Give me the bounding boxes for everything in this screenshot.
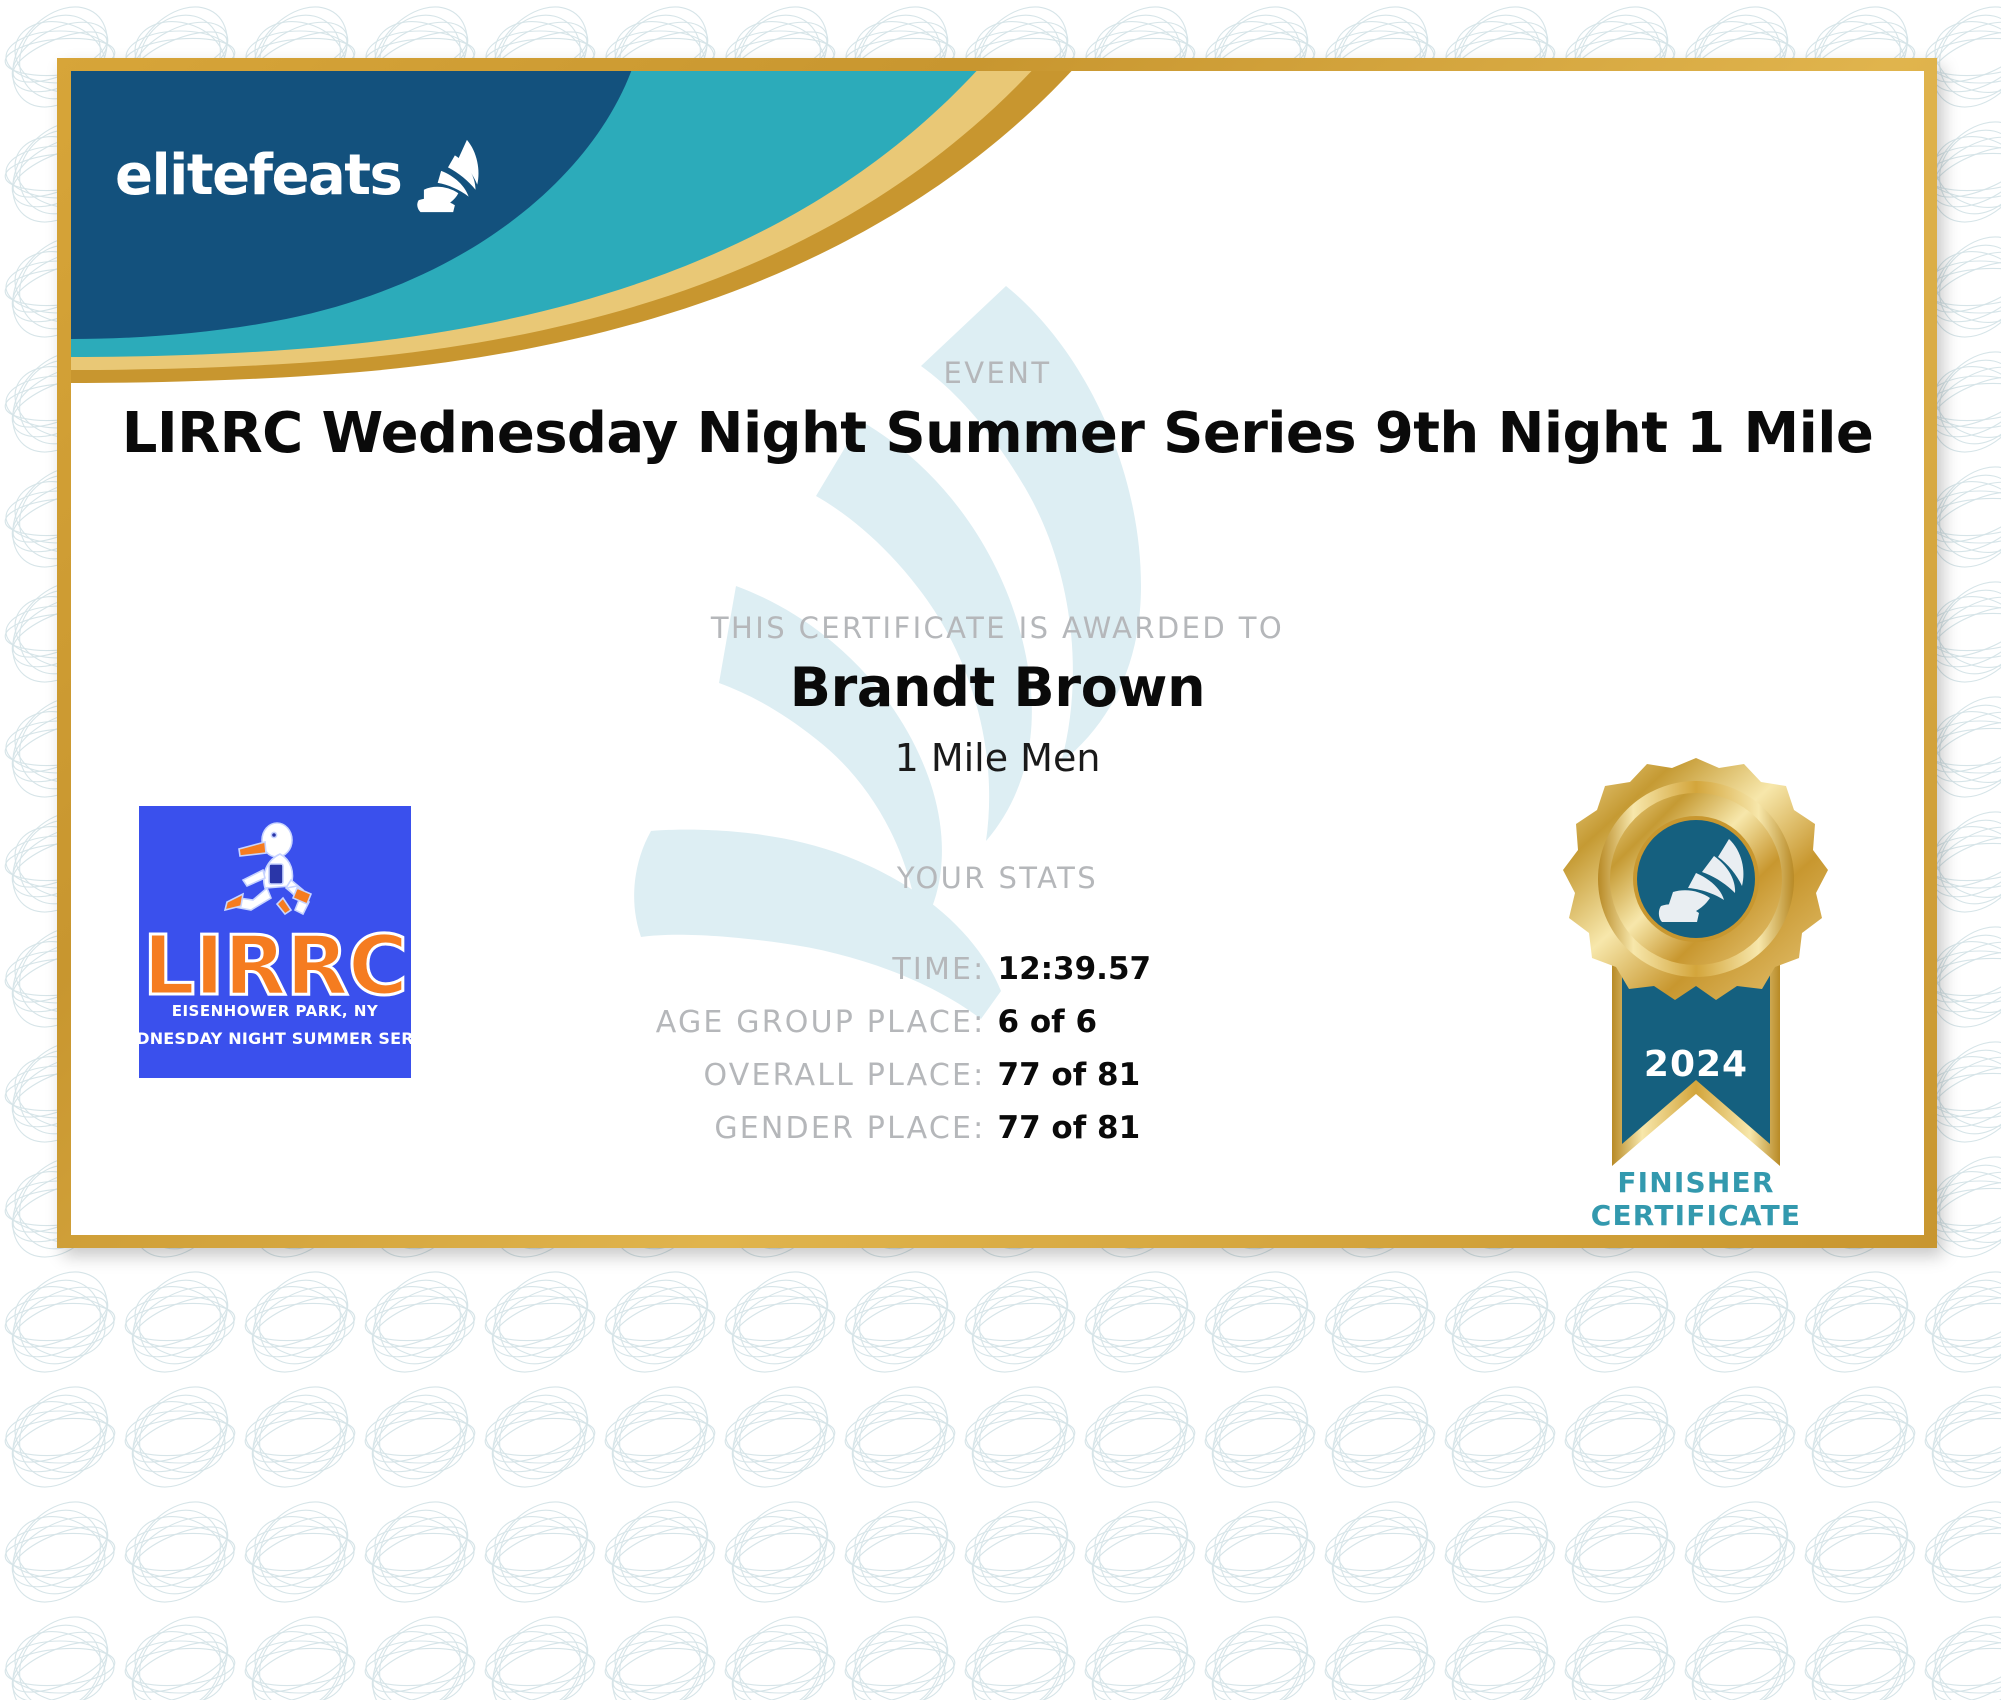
event-label: EVENT xyxy=(71,356,1924,390)
stat-value: 77 of 81 xyxy=(998,1057,1443,1093)
svg-text:LIRRC: LIRRC xyxy=(143,919,407,1014)
elitefeats-logo: elitefeats xyxy=(115,133,491,219)
certificate-paper: elitefeats EVENT LIRRC Wednesday Night S… xyxy=(71,71,1924,1235)
medal-caption-line2: CERTIFICATE xyxy=(1516,1199,1876,1232)
finisher-medal-badge: 2024 xyxy=(1516,746,1876,1216)
certificate-page: elitefeats EVENT LIRRC Wednesday Night S… xyxy=(0,0,2001,1700)
certificate-content: EVENT LIRRC Wednesday Night Summer Serie… xyxy=(71,71,1924,1235)
stat-value: 77 of 81 xyxy=(998,1110,1443,1146)
medal-caption-line1: FINISHER xyxy=(1516,1166,1876,1199)
recipient-name: Brandt Brown xyxy=(71,656,1924,719)
stat-value: 6 of 6 xyxy=(998,1004,1443,1040)
stat-key: AGE GROUP PLACE: xyxy=(553,1005,998,1040)
event-title: LIRRC Wednesday Night Summer Series 9th … xyxy=(71,401,1924,466)
svg-text:WEDNESDAY NIGHT SUMMER SERIES: WEDNESDAY NIGHT SUMMER SERIES xyxy=(139,1029,411,1048)
stat-key: GENDER PLACE: xyxy=(553,1111,998,1146)
awarded-to-label: THIS CERTIFICATE IS AWARDED TO xyxy=(71,611,1924,645)
winged-foot-icon xyxy=(405,133,491,219)
stat-value: 12:39.57 xyxy=(998,951,1443,987)
medal-year: 2024 xyxy=(1644,1044,1748,1085)
lirrc-race-logo: LIRRC EISENHOWER PARK, NY WEDNESDAY NIGH… xyxy=(139,806,411,1078)
medal-disc xyxy=(1563,758,1828,1000)
stat-key: OVERALL PLACE: xyxy=(553,1058,998,1093)
elitefeats-wordmark: elitefeats xyxy=(115,148,401,204)
stat-key: TIME: xyxy=(553,952,998,987)
svg-text:EISENHOWER PARK, NY: EISENHOWER PARK, NY xyxy=(172,1002,379,1020)
medal-caption: FINISHER CERTIFICATE xyxy=(1516,1166,1876,1232)
gold-border-frame: elitefeats EVENT LIRRC Wednesday Night S… xyxy=(57,58,1937,1248)
